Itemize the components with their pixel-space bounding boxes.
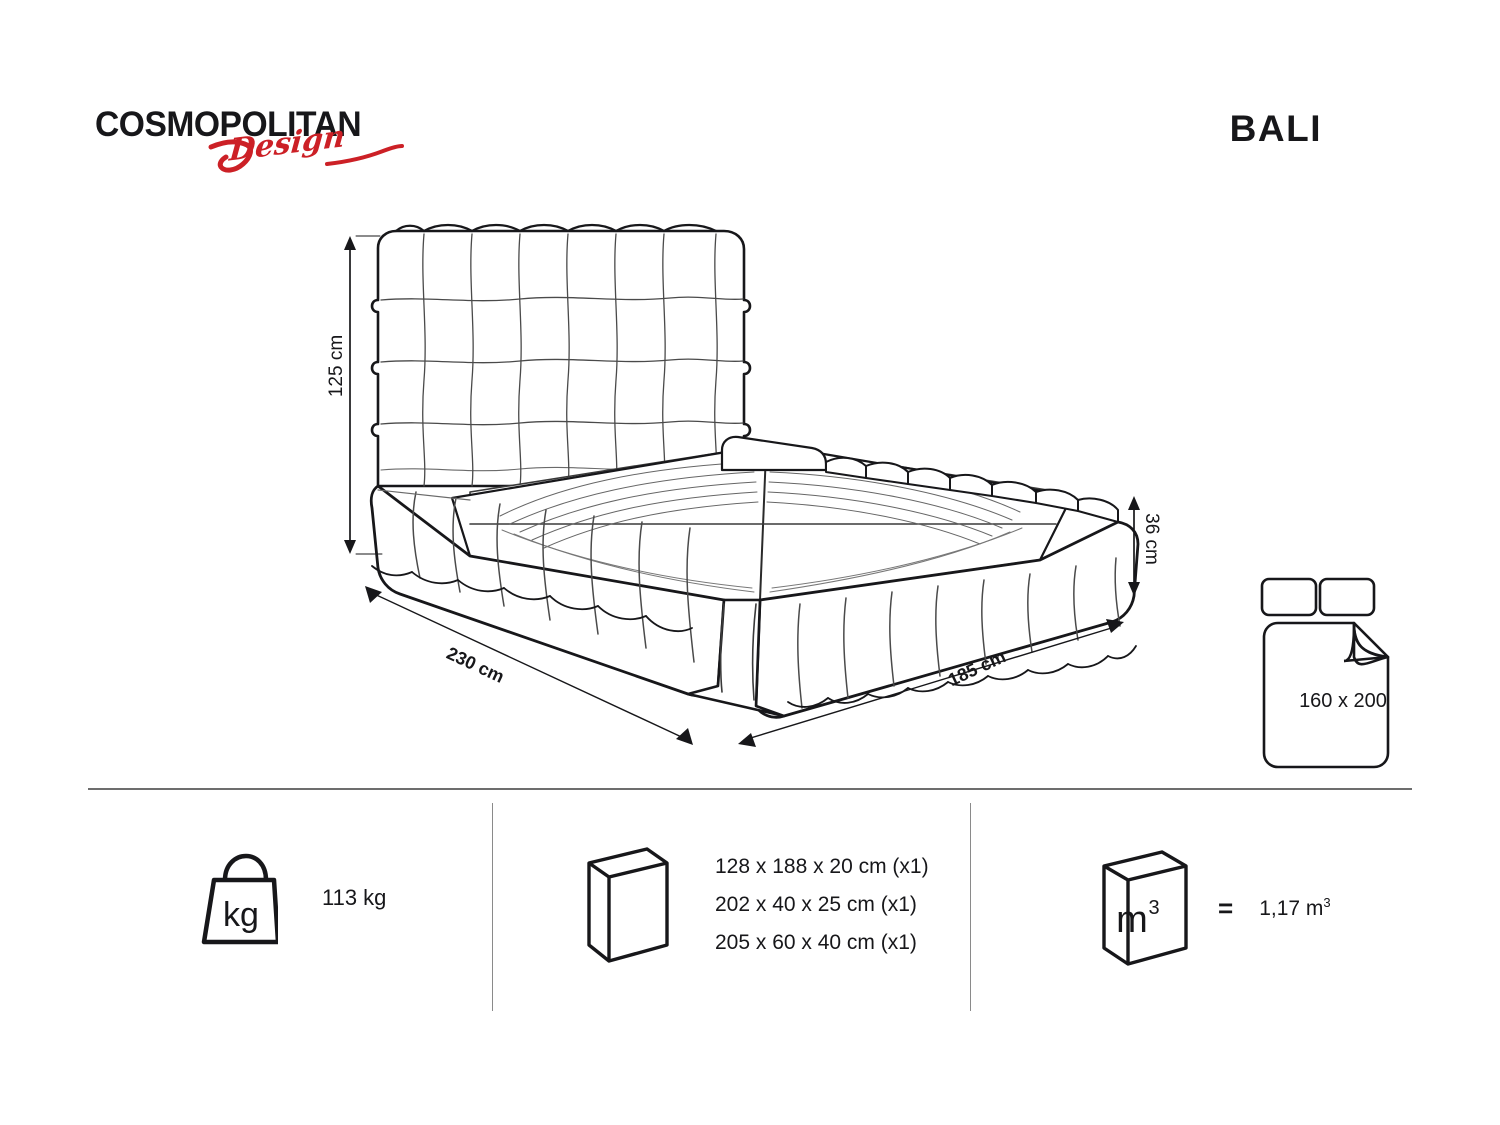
pillow-left-icon: [1262, 579, 1316, 615]
carton-dimension-item: 202 x 40 x 25 cm (x1): [715, 893, 929, 917]
carton-dimension-item: 205 x 60 x 40 cm (x1): [715, 931, 929, 955]
carton-dimension-item: 128 x 188 x 20 cm (x1): [715, 855, 929, 879]
weight-value: 113 kg: [322, 885, 386, 911]
pillow-right-icon: [1320, 579, 1374, 615]
spec-sheet: COSMOPOLITAN Design BALI: [0, 0, 1500, 1125]
weight-panel: kg 113 kg: [200, 850, 386, 946]
volume-value-exponent: 3: [1323, 895, 1330, 910]
carton-panel: 128 x 188 x 20 cm (x1) 202 x 40 x 25 cm …: [585, 845, 929, 965]
bed-linen-icon: [1258, 575, 1423, 780]
volume-icon-exponent: 3: [1148, 897, 1159, 919]
dimension-label-height: 125 cm: [326, 335, 348, 397]
panel-divider-right: [970, 803, 971, 1011]
dimension-label-width: 185 cm: [945, 646, 1009, 691]
volume-panel: m 3 = 1,17 m3: [1100, 848, 1331, 968]
brand-script-mark: Design: [207, 131, 407, 181]
section-divider-horizontal: [88, 788, 1412, 790]
page-title: BALI: [1230, 108, 1322, 150]
volume-icon-label: m: [1116, 899, 1148, 941]
panel-divider-left: [492, 803, 493, 1011]
equals-sign: =: [1218, 893, 1233, 924]
mattress-size-label: 160 x 200: [1278, 690, 1408, 713]
volume-value-number: 1,17 m: [1259, 897, 1323, 920]
volume-box-icon: m 3: [1100, 848, 1190, 968]
brand-logo: COSMOPOLITAN Design: [95, 105, 415, 185]
carton-box-icon: [585, 845, 671, 965]
weight-icon-label: kg: [223, 896, 259, 934]
volume-value: 1,17 m3: [1259, 895, 1330, 921]
carton-dimension-list: 128 x 188 x 20 cm (x1) 202 x 40 x 25 cm …: [715, 855, 929, 955]
weight-kg-icon: kg: [200, 850, 278, 946]
dimension-label-length: 230 cm: [443, 643, 507, 688]
dimension-label-base-height: 36 cm: [1140, 513, 1162, 565]
